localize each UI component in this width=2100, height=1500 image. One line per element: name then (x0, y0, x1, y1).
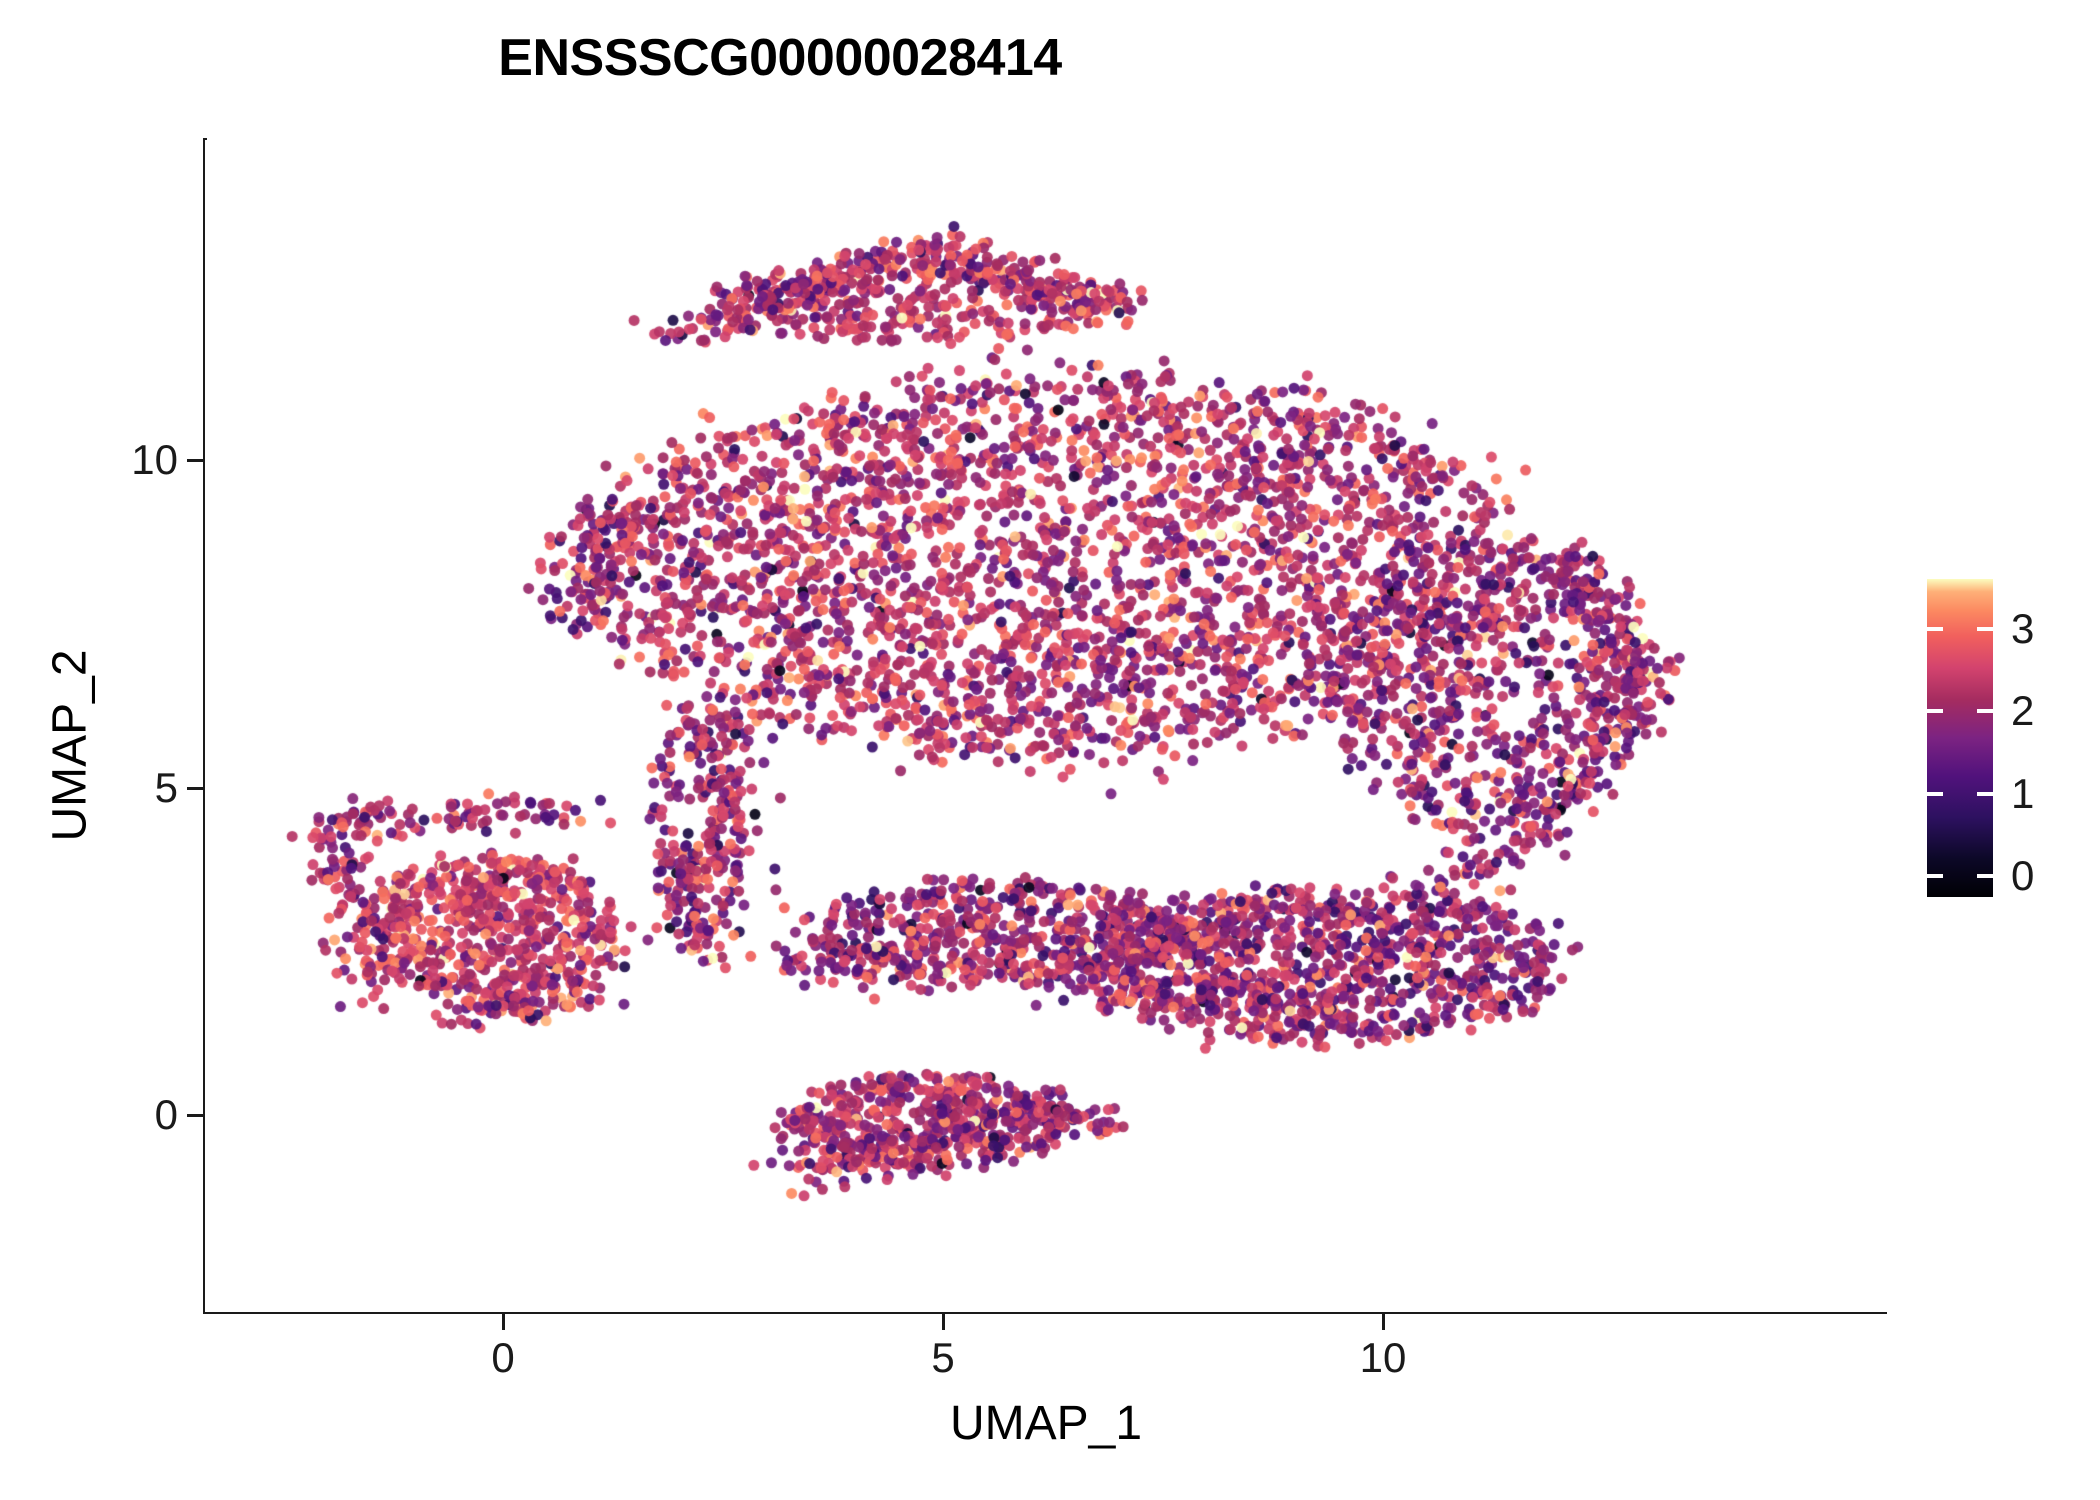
colorbar-tick (1977, 709, 1993, 713)
colorbar-tick (1977, 627, 1993, 631)
colorbar-tick (1977, 792, 1993, 796)
colorbar-tick-label: 1 (2011, 770, 2034, 818)
colorbar-tick-label: 2 (2011, 687, 2034, 735)
umap-feature-plot: ENSSSCG00000028414 0510 UMAP_1 UMAP_2 01… (0, 0, 2100, 1500)
x-tick-mark (502, 1314, 505, 1330)
colorbar-tick (1927, 874, 1943, 878)
colorbar-tick-label: 3 (2011, 605, 2034, 653)
scatter-points-layer (205, 140, 1887, 1312)
colorbar-tick (1927, 792, 1943, 796)
colorbar-tick-label: 0 (2011, 852, 2034, 900)
y-tick-mark (187, 459, 203, 462)
plot-panel (205, 140, 1887, 1312)
y-tick-mark (187, 1114, 203, 1117)
y-axis-title: UMAP_2 (43, 346, 98, 1146)
colorbar-tick (1927, 627, 1943, 631)
x-axis-title: UMAP_1 (205, 1396, 1887, 1451)
x-tick-label: 0 (491, 1334, 514, 1382)
colorbar-tick (1977, 874, 1993, 878)
page-title: ENSSSCG00000028414 (0, 28, 1560, 88)
x-tick-mark (942, 1314, 945, 1330)
colorbar-tick (1927, 709, 1943, 713)
y-axis-ticks: 0510 (0, 0, 205, 1500)
x-tick-label: 5 (931, 1334, 954, 1382)
x-tick-mark (1382, 1314, 1385, 1330)
y-tick-mark (187, 787, 203, 790)
colorbar-legend: 0123 (1927, 579, 1993, 897)
x-tick-label: 10 (1360, 1334, 1407, 1382)
